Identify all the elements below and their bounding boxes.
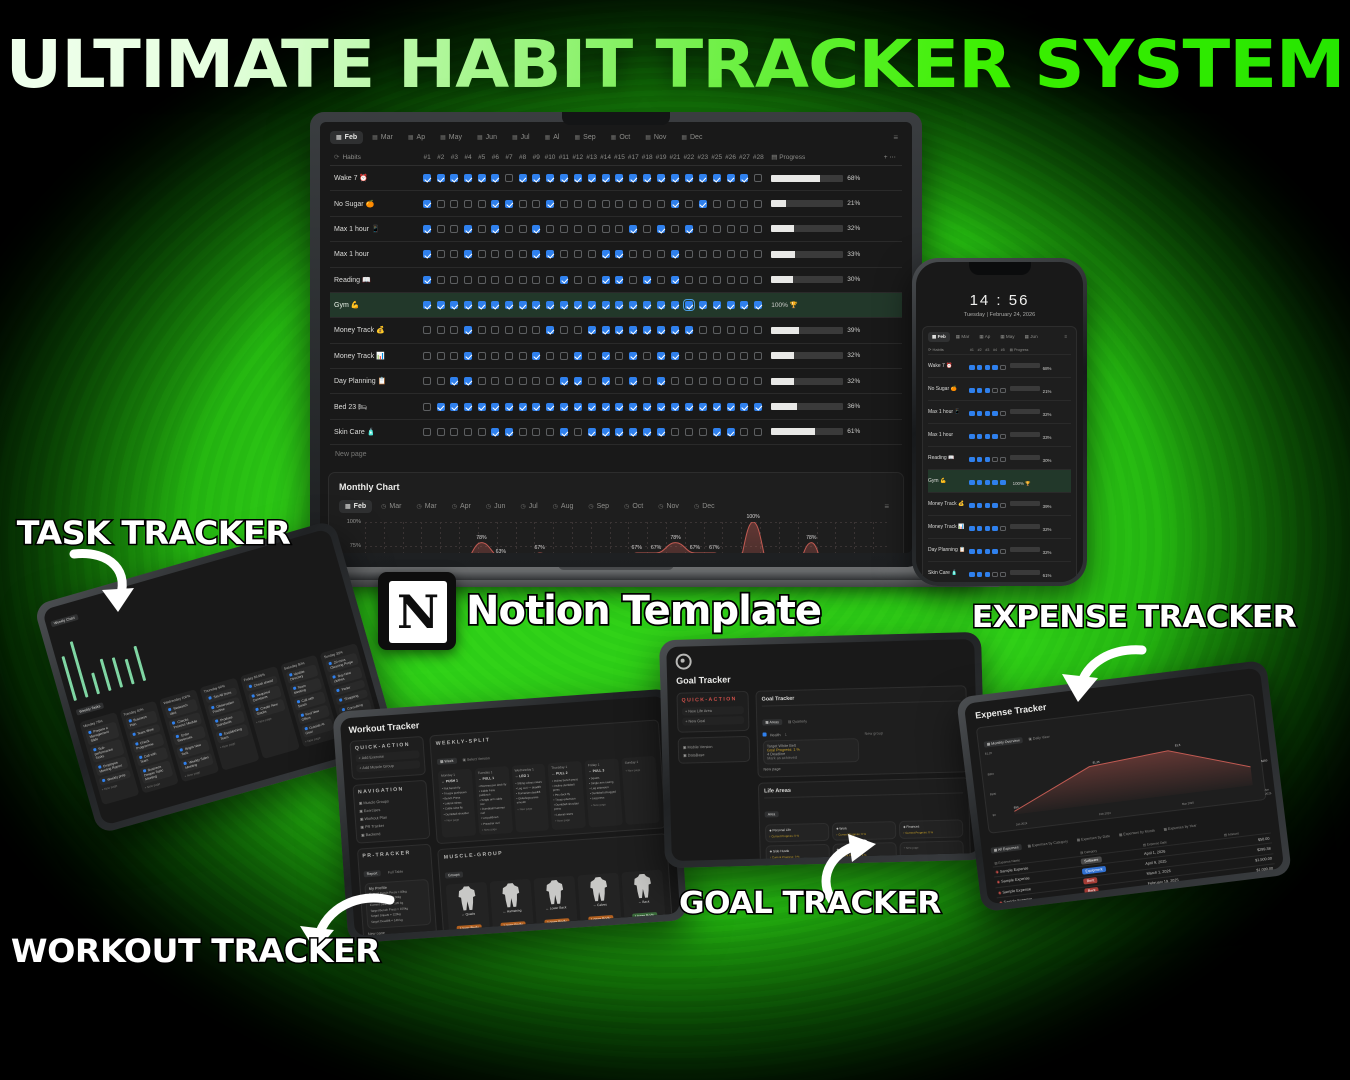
habit-cell[interactable]	[461, 419, 475, 444]
habit-cell[interactable]	[489, 369, 503, 394]
habit-checkbox[interactable]	[532, 301, 540, 309]
habit-checkbox[interactable]	[713, 200, 721, 208]
habit-cell[interactable]	[448, 292, 462, 317]
habit-checkbox[interactable]	[546, 352, 554, 360]
habit-cell[interactable]	[489, 292, 503, 317]
habit-cell[interactable]	[557, 191, 571, 216]
phone-habit-cell[interactable]	[968, 539, 976, 562]
habit-checkbox[interactable]	[713, 174, 721, 182]
habit-cell[interactable]	[489, 394, 503, 419]
habit-checkbox[interactable]	[532, 428, 540, 436]
habit-checkbox[interactable]	[546, 225, 554, 233]
phone-habit-checkbox[interactable]	[1000, 549, 1005, 554]
phone-month-tab[interactable]: ▦ May	[996, 332, 1018, 342]
muscle-group-card[interactable]: ↔ CalvesLower BodyTotal Exercises: 5	[577, 873, 622, 934]
habit-checkbox[interactable]	[754, 403, 762, 411]
habit-cell[interactable]	[434, 166, 448, 191]
habit-cell[interactable]	[612, 166, 626, 191]
habit-checkbox[interactable]	[574, 200, 582, 208]
habit-checkbox[interactable]	[754, 352, 762, 360]
habit-checkbox[interactable]	[491, 276, 499, 284]
phone-month-tab[interactable]: ▦ Ap	[975, 332, 994, 342]
habit-cell[interactable]	[434, 242, 448, 267]
habit-checkbox[interactable]	[588, 326, 596, 334]
habit-cell[interactable]	[448, 216, 462, 241]
habit-cell[interactable]	[710, 292, 724, 317]
phone-habit-checkbox[interactable]	[969, 526, 974, 531]
habit-checkbox[interactable]	[615, 326, 623, 334]
phone-habit-checkbox[interactable]	[1000, 480, 1005, 485]
habit-cell[interactable]	[626, 166, 640, 191]
habit-checkbox[interactable]	[491, 352, 499, 360]
habit-cell[interactable]	[654, 419, 668, 444]
habit-cell[interactable]	[461, 343, 475, 368]
habit-cell[interactable]	[724, 318, 738, 343]
phone-habit-cell[interactable]	[983, 493, 991, 516]
habit-cell[interactable]	[640, 267, 654, 292]
habit-cell[interactable]	[654, 267, 668, 292]
chart-month-tab-apr[interactable]: ◷Apr	[446, 500, 477, 513]
habit-cell[interactable]	[529, 419, 543, 444]
habit-cell[interactable]	[737, 394, 751, 419]
habit-cell[interactable]	[737, 292, 751, 317]
habit-checkbox[interactable]	[671, 276, 679, 284]
habit-cell[interactable]	[612, 216, 626, 241]
habit-cell[interactable]	[640, 166, 654, 191]
month-tab-may[interactable]: ▦May	[434, 131, 468, 144]
habit-checkbox[interactable]	[657, 301, 665, 309]
habit-checkbox[interactable]	[464, 377, 472, 385]
habit-checkbox[interactable]	[505, 301, 513, 309]
habit-cell[interactable]	[434, 394, 448, 419]
habit-checkbox[interactable]	[546, 200, 554, 208]
habit-cell[interactable]	[599, 242, 613, 267]
habit-checkbox[interactable]	[657, 377, 665, 385]
habit-cell[interactable]	[668, 343, 682, 368]
phone-habit-cell[interactable]	[983, 470, 991, 493]
phone-habit-checkbox[interactable]	[1000, 572, 1005, 577]
habit-checkbox[interactable]	[491, 225, 499, 233]
habit-cell[interactable]	[612, 267, 626, 292]
habit-checkbox[interactable]	[546, 403, 554, 411]
habit-checkbox[interactable]	[505, 403, 513, 411]
habit-cell[interactable]	[585, 343, 599, 368]
habit-checkbox[interactable]	[519, 174, 527, 182]
habit-checkbox[interactable]	[699, 377, 707, 385]
phone-habit-cell[interactable]	[991, 378, 999, 401]
habit-checkbox[interactable]	[727, 200, 735, 208]
habit-cell[interactable]	[612, 394, 626, 419]
habit-cell[interactable]	[585, 369, 599, 394]
habit-checkbox[interactable]	[464, 174, 472, 182]
habit-checkbox[interactable]	[727, 225, 735, 233]
habit-checkbox[interactable]	[519, 428, 527, 436]
phone-habit-cell[interactable]	[983, 401, 991, 424]
phone-habit-checkbox[interactable]	[977, 434, 982, 439]
habit-checkbox[interactable]	[478, 403, 486, 411]
phone-habit-cell[interactable]	[976, 493, 984, 516]
habit-checkbox[interactable]	[423, 301, 431, 309]
habit-checkbox[interactable]	[546, 326, 554, 334]
month-tab-al[interactable]: ▦Al	[539, 131, 566, 144]
phone-habit-cell[interactable]	[999, 355, 1007, 378]
habit-cell[interactable]	[696, 292, 710, 317]
habit-cell[interactable]	[599, 191, 613, 216]
habit-checkbox[interactable]	[574, 403, 582, 411]
habit-cell[interactable]	[724, 292, 738, 317]
habit-checkbox[interactable]	[671, 377, 679, 385]
habit-checkbox[interactable]	[629, 352, 637, 360]
habit-cell[interactable]	[529, 267, 543, 292]
habit-cell[interactable]	[612, 343, 626, 368]
phone-habit-checkbox[interactable]	[1000, 411, 1005, 416]
chart-month-tab-sep[interactable]: ◷Sep	[582, 500, 615, 513]
habit-checkbox[interactable]	[478, 276, 486, 284]
habit-cell[interactable]	[502, 166, 516, 191]
habit-checkbox[interactable]	[478, 377, 486, 385]
habit-cell[interactable]	[696, 318, 710, 343]
habit-cell[interactable]	[737, 369, 751, 394]
habit-cell[interactable]	[724, 267, 738, 292]
habit-checkbox[interactable]	[643, 352, 651, 360]
habit-checkbox[interactable]	[615, 352, 623, 360]
split-new-page[interactable]: + New page	[625, 765, 653, 773]
habit-checkbox[interactable]	[437, 301, 445, 309]
habit-cell[interactable]	[668, 292, 682, 317]
phone-habit-checkbox[interactable]	[977, 549, 982, 554]
habit-checkbox[interactable]	[574, 377, 582, 385]
chart-month-tab-dec[interactable]: ◷Dec	[688, 500, 721, 513]
habit-checkbox[interactable]	[546, 250, 554, 258]
habit-checkbox[interactable]	[754, 301, 762, 309]
phone-habit-checkbox[interactable]	[992, 365, 997, 370]
habit-checkbox[interactable]	[643, 200, 651, 208]
habit-cell[interactable]	[668, 419, 682, 444]
habit-checkbox[interactable]	[685, 326, 693, 334]
chart-month-tab-jul[interactable]: ◷Jul	[514, 500, 543, 513]
habit-cell[interactable]	[654, 318, 668, 343]
habit-cell[interactable]	[724, 166, 738, 191]
phone-habit-cell[interactable]	[983, 539, 991, 562]
habit-cell[interactable]	[448, 318, 462, 343]
expense-view-tab[interactable]: ▦ Monthly Overview	[984, 737, 1023, 748]
habit-cell[interactable]	[599, 369, 613, 394]
habit-checkbox[interactable]	[629, 301, 637, 309]
habit-checkbox[interactable]	[450, 377, 458, 385]
habit-cell[interactable]	[682, 166, 696, 191]
habit-checkbox[interactable]	[532, 326, 540, 334]
phone-habit-cell[interactable]	[968, 401, 976, 424]
phone-habit-cell[interactable]	[991, 562, 999, 583]
habit-cell[interactable]	[626, 343, 640, 368]
phone-habit-cell[interactable]	[983, 378, 991, 401]
habit-cell[interactable]	[626, 419, 640, 444]
habit-cell[interactable]	[585, 318, 599, 343]
phone-habit-cell[interactable]	[983, 447, 991, 470]
habit-checkbox[interactable]	[713, 352, 721, 360]
habit-checkbox[interactable]	[602, 326, 610, 334]
phone-habit-cell[interactable]	[999, 562, 1007, 583]
habit-checkbox[interactable]	[491, 403, 499, 411]
phone-habit-checkbox[interactable]	[992, 411, 997, 416]
habit-checkbox[interactable]	[629, 377, 637, 385]
habit-cell[interactable]	[543, 343, 557, 368]
habit-cell[interactable]	[654, 394, 668, 419]
habit-checkbox[interactable]	[519, 225, 527, 233]
habit-cell[interactable]	[640, 242, 654, 267]
habit-checkbox[interactable]	[437, 428, 445, 436]
habit-checkbox[interactable]	[588, 301, 596, 309]
weekly-split-tab[interactable]: ▦ Week	[437, 758, 457, 765]
habit-checkbox[interactable]	[713, 250, 721, 258]
habit-checkbox[interactable]	[754, 276, 762, 284]
habit-checkbox[interactable]	[464, 352, 472, 360]
habit-cell[interactable]	[571, 166, 585, 191]
habit-checkbox[interactable]	[478, 200, 486, 208]
habit-checkbox[interactable]	[727, 174, 735, 182]
habit-checkbox[interactable]	[615, 174, 623, 182]
phone-habit-cell[interactable]	[976, 401, 984, 424]
quick-action-item[interactable]: + Add Muscle Group	[356, 760, 420, 772]
habit-cell[interactable]	[737, 343, 751, 368]
habit-cell[interactable]	[682, 343, 696, 368]
chart-month-tab-aug[interactable]: ◷Aug	[547, 500, 580, 513]
habit-cell[interactable]	[516, 343, 530, 368]
habit-checkbox[interactable]	[491, 326, 499, 334]
habit-checkbox[interactable]	[643, 301, 651, 309]
expense-view-tab[interactable]: ▣ Daily View	[1025, 733, 1053, 742]
habit-cell[interactable]	[751, 369, 765, 394]
habit-checkbox[interactable]	[629, 250, 637, 258]
muscle-group-card[interactable]: ↔ Lower BackLower BodyTotal Exercises: 3	[533, 876, 578, 936]
habit-cell[interactable]	[420, 267, 434, 292]
habit-cell[interactable]	[571, 191, 585, 216]
habit-checkbox[interactable]	[754, 326, 762, 334]
habit-cell[interactable]	[489, 343, 503, 368]
habit-checkbox[interactable]	[629, 428, 637, 436]
habit-cell[interactable]	[543, 267, 557, 292]
habit-cell[interactable]	[448, 369, 462, 394]
habit-cell[interactable]	[489, 166, 503, 191]
habit-month-tabs[interactable]: ▦Feb▦Mar▦Ap▦May▦Jun▦Jul▦Al▦Sep▦Oct▦Nov▦D…	[330, 129, 902, 149]
habit-cell[interactable]	[612, 191, 626, 216]
habit-cell[interactable]	[557, 369, 571, 394]
phone-habit-checkbox[interactable]	[1000, 503, 1005, 508]
habit-cell[interactable]	[434, 318, 448, 343]
habit-cell[interactable]	[475, 267, 489, 292]
habit-cell[interactable]	[571, 216, 585, 241]
habit-cell[interactable]	[737, 242, 751, 267]
habit-cell[interactable]	[448, 166, 462, 191]
habit-checkbox[interactable]	[685, 276, 693, 284]
habit-cell[interactable]	[654, 216, 668, 241]
habit-checkbox[interactable]	[450, 200, 458, 208]
phone-habit-cell[interactable]	[991, 493, 999, 516]
habit-checkbox[interactable]	[602, 276, 610, 284]
habit-checkbox[interactable]	[740, 352, 748, 360]
habit-cell[interactable]	[710, 242, 724, 267]
habit-checkbox[interactable]	[602, 301, 610, 309]
habit-checkbox[interactable]	[588, 200, 596, 208]
habit-cell[interactable]	[668, 242, 682, 267]
phone-habit-cell[interactable]	[976, 424, 984, 447]
habit-cell[interactable]	[599, 343, 613, 368]
habit-cell[interactable]	[434, 191, 448, 216]
habit-cell[interactable]	[640, 369, 654, 394]
habit-checkbox[interactable]	[450, 174, 458, 182]
habit-checkbox[interactable]	[657, 174, 665, 182]
goal-new-group[interactable]: New group	[864, 729, 883, 735]
habit-checkbox[interactable]	[505, 225, 513, 233]
habit-checkbox[interactable]	[740, 250, 748, 258]
habit-checkbox[interactable]	[423, 200, 431, 208]
expense-table-tab[interactable]: ▦ Expenses by Category	[1024, 838, 1071, 850]
habit-cell[interactable]	[626, 191, 640, 216]
habit-checkbox[interactable]	[519, 377, 527, 385]
habit-checkbox[interactable]	[699, 225, 707, 233]
habit-cell[interactable]	[668, 267, 682, 292]
habit-cell[interactable]	[571, 267, 585, 292]
habit-checkbox[interactable]	[491, 250, 499, 258]
habit-checkbox[interactable]	[602, 403, 610, 411]
habit-checkbox[interactable]	[560, 428, 568, 436]
habit-cell[interactable]	[475, 292, 489, 317]
habit-checkbox[interactable]	[615, 200, 623, 208]
habit-checkbox[interactable]	[560, 377, 568, 385]
phone-habit-checkbox[interactable]	[992, 480, 997, 485]
habit-checkbox[interactable]	[437, 377, 445, 385]
phone-habit-checkbox[interactable]	[977, 388, 982, 393]
habit-cell[interactable]	[502, 267, 516, 292]
habit-checkbox[interactable]	[657, 200, 665, 208]
habit-checkbox[interactable]	[574, 174, 582, 182]
habit-checkbox[interactable]	[699, 200, 707, 208]
habit-cell[interactable]	[529, 166, 543, 191]
habit-cell[interactable]	[654, 191, 668, 216]
habit-cell[interactable]	[626, 267, 640, 292]
habit-cell[interactable]	[751, 292, 765, 317]
habit-checkbox[interactable]	[602, 428, 610, 436]
habit-checkbox[interactable]	[478, 428, 486, 436]
habit-cell[interactable]	[516, 242, 530, 267]
habit-checkbox[interactable]	[754, 428, 762, 436]
habit-checkbox[interactable]	[546, 377, 554, 385]
habit-cell[interactable]	[668, 216, 682, 241]
phone-habit-cell[interactable]	[976, 539, 984, 562]
phone-habit-cell[interactable]	[976, 470, 984, 493]
habit-cell[interactable]	[710, 216, 724, 241]
habit-checkbox[interactable]	[657, 403, 665, 411]
habit-cell[interactable]	[696, 267, 710, 292]
habit-cell[interactable]	[489, 242, 503, 267]
habit-checkbox[interactable]	[450, 301, 458, 309]
habit-cell[interactable]	[682, 242, 696, 267]
habit-checkbox[interactable]	[754, 250, 762, 258]
habit-checkbox[interactable]	[560, 301, 568, 309]
habit-cell[interactable]	[710, 343, 724, 368]
habit-checkbox[interactable]	[671, 301, 679, 309]
habit-cell[interactable]	[599, 318, 613, 343]
habit-checkbox[interactable]	[464, 200, 472, 208]
habit-checkbox[interactable]	[629, 276, 637, 284]
habit-checkbox[interactable]	[629, 200, 637, 208]
habit-checkbox[interactable]	[685, 225, 693, 233]
habit-checkbox[interactable]	[423, 428, 431, 436]
habit-cell[interactable]	[710, 267, 724, 292]
habit-cell[interactable]	[420, 318, 434, 343]
habit-cell[interactable]	[461, 394, 475, 419]
habit-checkbox[interactable]	[505, 276, 513, 284]
phone-habit-checkbox[interactable]	[977, 503, 982, 508]
habit-cell[interactable]	[599, 394, 613, 419]
habit-cell[interactable]	[475, 318, 489, 343]
goal-quick-action-item[interactable]: + New Life Area	[682, 706, 744, 716]
phone-habit-checkbox[interactable]	[985, 572, 990, 577]
habit-checkbox[interactable]	[615, 403, 623, 411]
habit-cell[interactable]	[654, 292, 668, 317]
habit-cell[interactable]	[710, 191, 724, 216]
habit-checkbox[interactable]	[740, 326, 748, 334]
phone-habit-checkbox[interactable]	[992, 434, 997, 439]
phone-habit-cell[interactable]	[991, 355, 999, 378]
habit-checkbox[interactable]	[588, 174, 596, 182]
phone-habit-checkbox[interactable]	[992, 549, 997, 554]
habit-cell[interactable]	[599, 419, 613, 444]
habit-cell[interactable]	[489, 267, 503, 292]
phone-habit-cell[interactable]	[968, 447, 976, 470]
phone-habit-checkbox[interactable]	[985, 457, 990, 462]
habit-cell[interactable]	[516, 216, 530, 241]
phone-habit-checkbox[interactable]	[969, 572, 974, 577]
habit-checkbox[interactable]	[602, 225, 610, 233]
habit-checkbox[interactable]	[602, 200, 610, 208]
phone-month-tab[interactable]: ▦ Mar	[952, 332, 974, 342]
habit-checkbox[interactable]	[478, 301, 486, 309]
habit-cell[interactable]	[710, 369, 724, 394]
habit-cell[interactable]	[434, 292, 448, 317]
habit-cell[interactable]	[543, 419, 557, 444]
muscle-group-card[interactable]: ↔ QuadsLower BodyTotal Exercises: 5	[446, 882, 491, 936]
habit-cell[interactable]	[724, 343, 738, 368]
habit-cell[interactable]	[751, 216, 765, 241]
habit-checkbox[interactable]	[671, 225, 679, 233]
habit-checkbox[interactable]	[437, 174, 445, 182]
phone-habit-checkbox[interactable]	[969, 457, 974, 462]
phone-habit-cell[interactable]	[999, 401, 1007, 424]
habit-cell[interactable]	[557, 318, 571, 343]
habit-cell[interactable]	[585, 267, 599, 292]
habit-checkbox[interactable]	[602, 174, 610, 182]
habit-checkbox[interactable]	[588, 352, 596, 360]
phone-habit-checkbox[interactable]	[985, 434, 990, 439]
habit-checkbox[interactable]	[657, 225, 665, 233]
habit-checkbox[interactable]	[671, 326, 679, 334]
habit-cell[interactable]	[640, 419, 654, 444]
phone-habit-checkbox[interactable]	[977, 572, 982, 577]
habit-cell[interactable]	[751, 394, 765, 419]
habit-cell[interactable]	[751, 242, 765, 267]
muscle-groups-tab[interactable]: Groups	[445, 872, 463, 879]
phone-habit-checkbox[interactable]	[977, 480, 982, 485]
habit-cell[interactable]	[557, 419, 571, 444]
phone-habit-checkbox[interactable]	[985, 526, 990, 531]
habit-checkbox[interactable]	[588, 403, 596, 411]
habit-checkbox[interactable]	[560, 225, 568, 233]
habit-checkbox[interactable]	[699, 403, 707, 411]
habit-checkbox[interactable]	[657, 352, 665, 360]
phone-habit-checkbox[interactable]	[969, 434, 974, 439]
habit-cell[interactable]	[724, 394, 738, 419]
